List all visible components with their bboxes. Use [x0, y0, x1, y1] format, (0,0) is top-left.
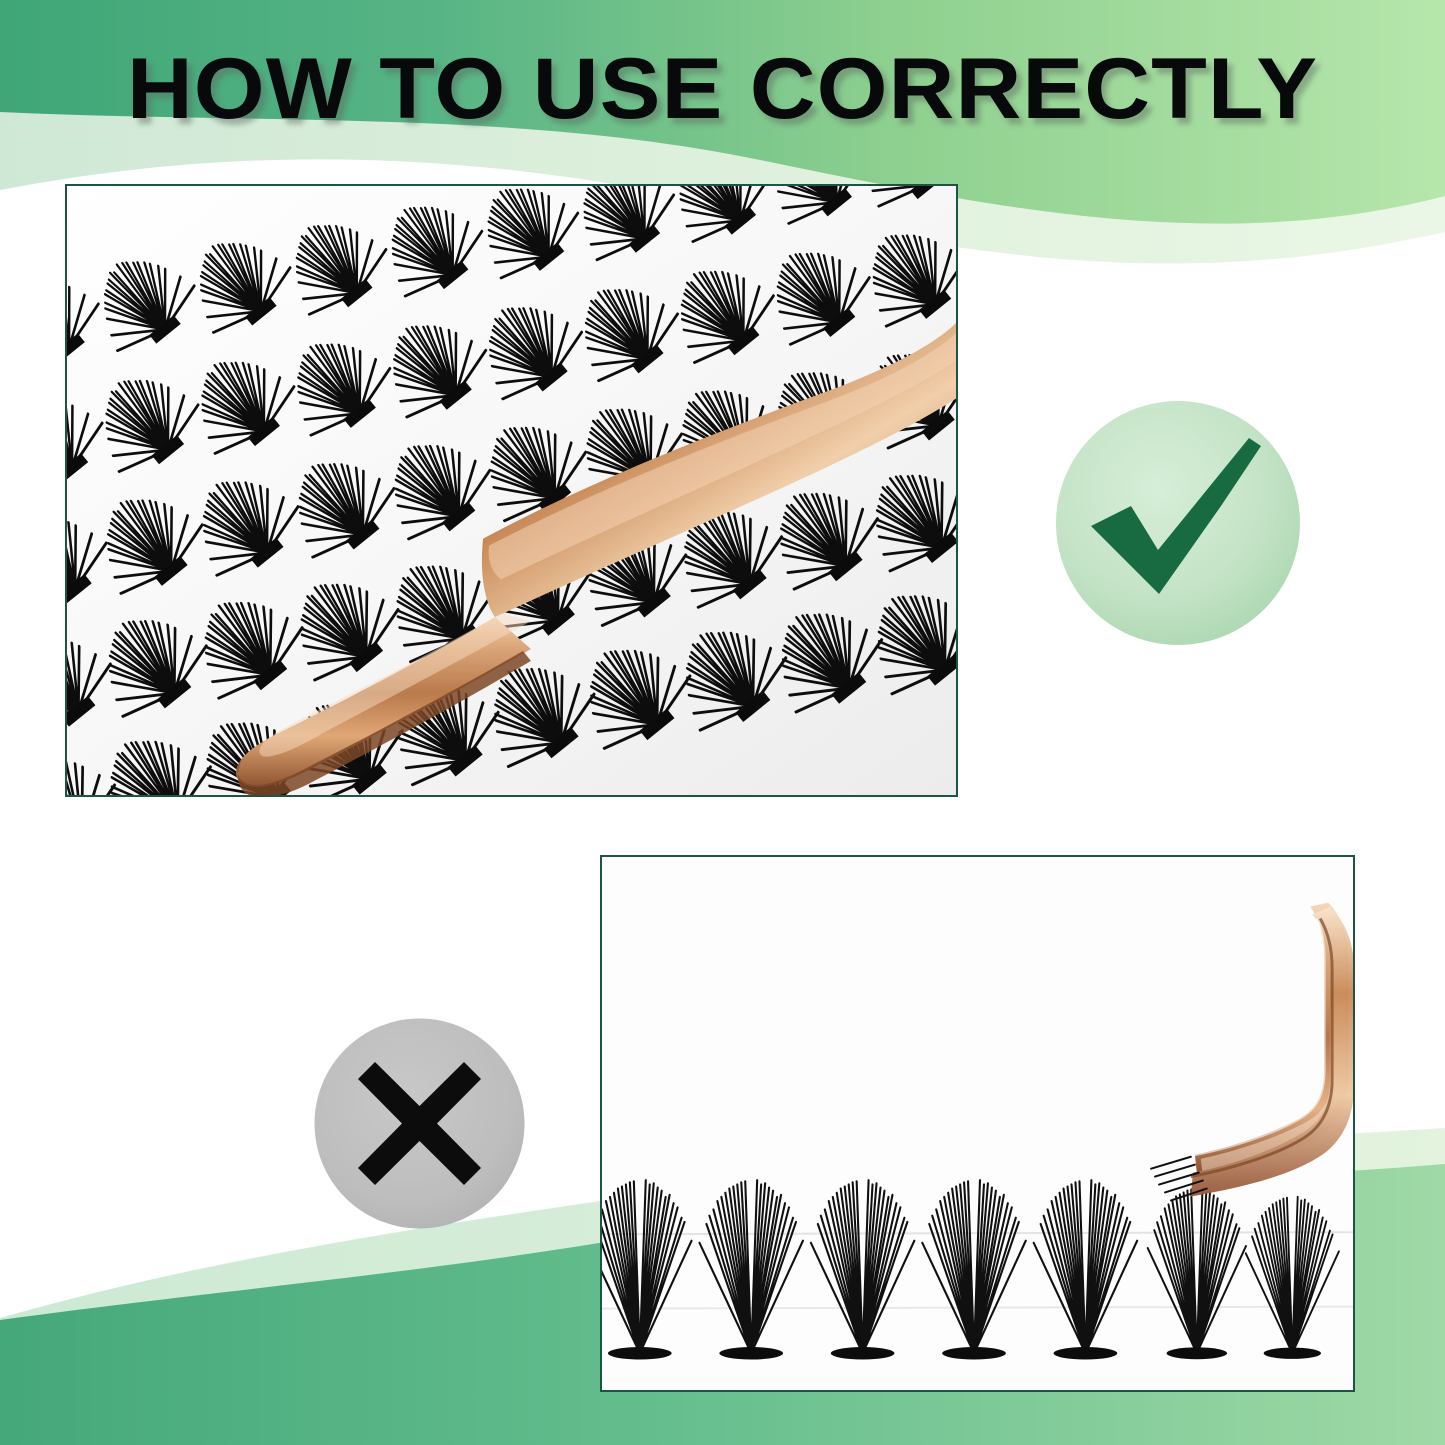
lash-row-illustration — [602, 857, 1353, 1390]
check-icon-svg — [1053, 398, 1303, 648]
check-icon — [1053, 398, 1303, 648]
photo-correct-usage — [65, 184, 958, 797]
photo-incorrect-usage — [600, 855, 1355, 1392]
lash-tray-illustration — [67, 186, 956, 795]
infographic-canvas: HOW TO USE CORRECTLY — [0, 0, 1445, 1445]
cross-icon — [312, 1016, 527, 1231]
cross-icon-svg — [312, 1016, 527, 1231]
page-title: HOW TO USE CORRECTLY — [0, 46, 1445, 132]
